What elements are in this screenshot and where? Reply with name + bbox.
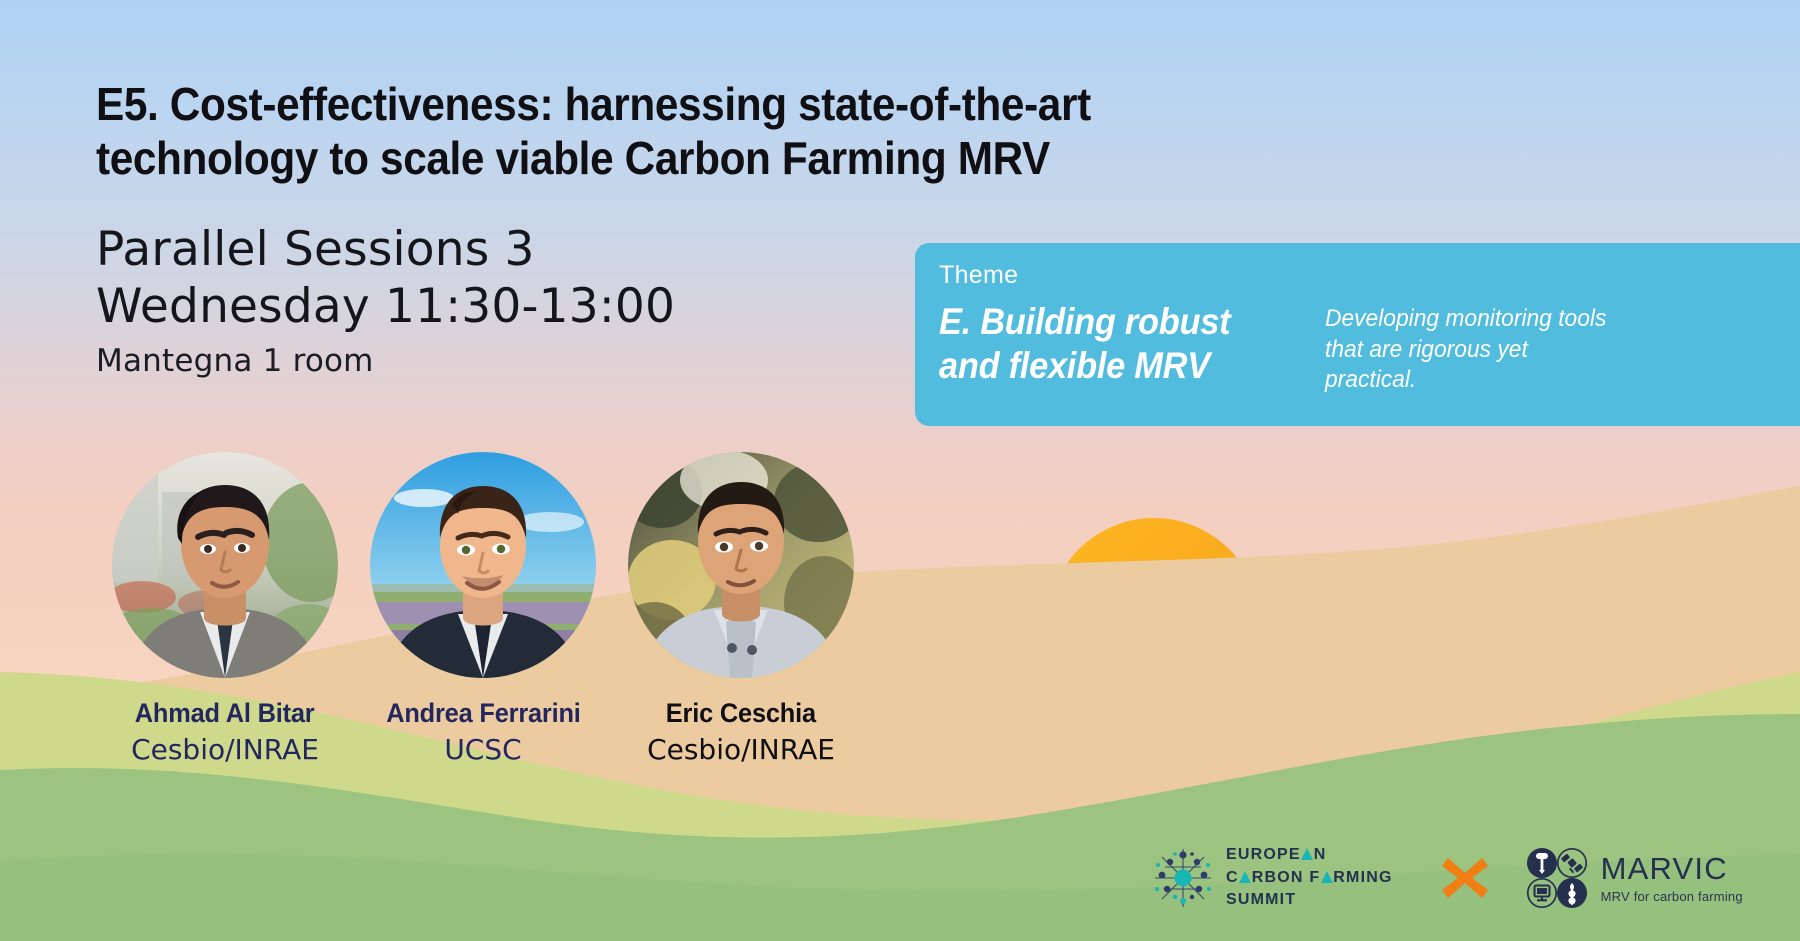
session-info: Parallel Sessions 3 Wednesday 11:30-13:0… <box>96 224 675 380</box>
session-card: E5. Cost-effectiveness: harnessing state… <box>0 0 1800 941</box>
theme-description: Developing monitoring tools that are rig… <box>1325 304 1610 396</box>
triangle-a-icon <box>1301 848 1313 860</box>
four-circles-icon <box>1525 846 1589 910</box>
speaker-list: Ahmad Al Bitar Cesbio/INRAE <box>96 452 870 766</box>
avatar <box>112 452 338 678</box>
x-cross-icon <box>1439 852 1491 904</box>
session-datetime: Wednesday 11:30-13:00 <box>96 281 675 334</box>
speaker-name: Ahmad Al Bitar <box>135 698 315 729</box>
avatar-photo-eric-ceschia <box>628 452 854 678</box>
avatar-photo-andrea-ferrarini <box>370 452 596 678</box>
theme-kicker-label: Theme <box>939 261 1800 290</box>
avatar-photo-ahmad-al-bitar <box>112 452 338 678</box>
speaker-org: UCSC <box>444 733 521 766</box>
network-nodes-icon <box>1150 845 1216 911</box>
speaker-name: Eric Ceschia <box>666 698 816 729</box>
theme-title: E. Building robust and flexible MRV <box>939 300 1274 387</box>
triangle-a-icon <box>1239 871 1251 883</box>
speaker-card: Ahmad Al Bitar Cesbio/INRAE <box>96 452 354 766</box>
page-title: E5. Cost-effectiveness: harnessing state… <box>96 78 1283 186</box>
ecfs-line2-a: C <box>1226 869 1239 886</box>
ecfs-line2-b: RBON F <box>1252 869 1321 886</box>
logo-european-carbon-farming-summit: EUROPEN CRBON FRMING SUMMIT <box>1150 844 1393 912</box>
speaker-card: Eric Ceschia Cesbio/INRAE <box>612 452 870 766</box>
theme-panel: Theme E. Building robust and flexible MR… <box>915 243 1800 426</box>
ecfs-wordmark: EUROPEN CRBON FRMING SUMMIT <box>1226 844 1393 912</box>
ecfs-line1-a: EUROPE <box>1226 846 1301 863</box>
marvic-wordmark: MARVIC MRV for carbon farming <box>1601 853 1743 904</box>
speaker-card: Andrea Ferrarini UCSC <box>354 452 612 766</box>
ecfs-line-1: EUROPEN <box>1226 844 1393 867</box>
avatar <box>628 452 854 678</box>
parallel-session-label: Parallel Sessions 3 <box>96 224 675 277</box>
marvic-name: MARVIC <box>1601 853 1743 884</box>
session-room: Mantegna 1 room <box>96 343 675 380</box>
ecfs-line-3: SUMMIT <box>1226 889 1393 912</box>
logo-marvic: MARVIC MRV for carbon farming <box>1525 846 1743 910</box>
marvic-tagline: MRV for carbon farming <box>1601 889 1743 904</box>
ecfs-line1-b: N <box>1314 846 1327 863</box>
ecfs-line2-c: RMING <box>1333 869 1392 886</box>
speaker-org: Cesbio/INRAE <box>647 733 835 766</box>
speaker-org: Cesbio/INRAE <box>131 733 319 766</box>
logo-bar: EUROPEN CRBON FRMING SUMMIT <box>1150 844 1743 912</box>
avatar <box>370 452 596 678</box>
speaker-name: Andrea Ferrarini <box>386 698 580 729</box>
triangle-a-icon <box>1321 871 1333 883</box>
ecfs-line-2: CRBON FRMING <box>1226 867 1393 890</box>
